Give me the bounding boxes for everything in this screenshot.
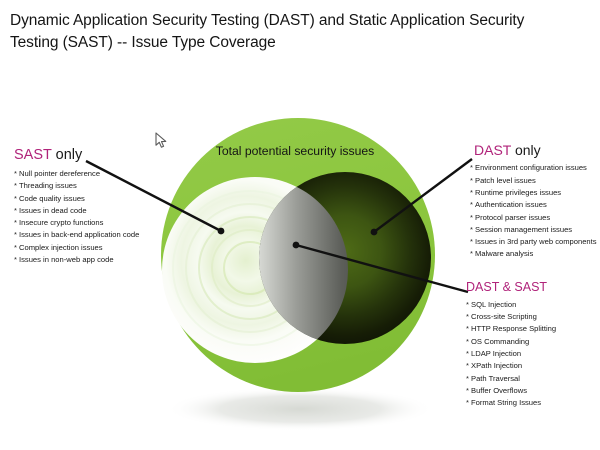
- callout-sast-only-heading-plain: only: [52, 147, 83, 163]
- list-item-label: Runtime privileges issues: [475, 188, 561, 197]
- list-item-label: Buffer Overflows: [471, 386, 527, 395]
- callout-sast-only-heading-accent: SAST: [14, 147, 52, 163]
- list-item: *Complex injection issues: [14, 242, 139, 254]
- list-item: *Runtime privileges issues: [470, 187, 597, 199]
- list-item: *OS Commanding: [466, 336, 556, 348]
- list-item-label: Patch level issues: [475, 176, 536, 185]
- list-item-label: Path Traversal: [471, 374, 520, 383]
- list-item-label: OS Commanding: [471, 337, 529, 346]
- list-item-label: Malware analysis: [475, 249, 533, 258]
- callout-dast-and-sast-list: *SQL Injection *Cross-site Scripting *HT…: [466, 299, 556, 410]
- list-item: *XPath Injection: [466, 360, 556, 372]
- callout-sast-only-list: *Null pointer dereference *Threading iss…: [14, 168, 139, 266]
- list-item: *Issues in non-web app code: [14, 254, 139, 266]
- list-item: *Protocol parser issues: [470, 212, 597, 224]
- list-item: *Cross-site Scripting: [466, 311, 556, 323]
- list-item: *Session management issues: [470, 224, 597, 236]
- list-item-label: Null pointer dereference: [19, 169, 100, 178]
- list-item-label: Issues in back-end application code: [19, 230, 139, 239]
- list-item-label: SQL Injection: [471, 300, 516, 309]
- list-item: *Null pointer dereference: [14, 168, 139, 180]
- list-item-label: Authentication issues: [475, 200, 547, 209]
- list-item-label: Format String Issues: [471, 398, 541, 407]
- list-item: *Malware analysis: [470, 248, 597, 260]
- list-item-label: XPath Injection: [471, 361, 522, 370]
- list-item: *Code quality issues: [14, 193, 139, 205]
- callout-dast-only-list: *Environment configuration issues *Patch…: [470, 162, 597, 260]
- callout-dast-only-heading: DAST only: [470, 143, 597, 158]
- list-item: *Issues in dead code: [14, 205, 139, 217]
- list-item-label: Cross-site Scripting: [471, 312, 537, 321]
- list-item: *SQL Injection: [466, 299, 556, 311]
- list-item-label: Threading issues: [19, 181, 77, 190]
- list-item: *Issues in back-end application code: [14, 229, 139, 241]
- mouse-cursor-icon: [155, 132, 169, 150]
- list-item-label: Protocol parser issues: [475, 213, 550, 222]
- list-item-label: Complex injection issues: [19, 243, 103, 252]
- list-item-label: Insecure crypto functions: [19, 218, 103, 227]
- diagram-drop-shadow: [166, 387, 434, 431]
- list-item-label: Code quality issues: [19, 194, 85, 203]
- callout-dast-only: DAST only *Environment configuration iss…: [470, 143, 597, 261]
- list-item: *Threading issues: [14, 180, 139, 192]
- list-item-label: HTTP Response Splitting: [471, 324, 556, 333]
- list-item: *Authentication issues: [470, 199, 597, 211]
- list-item: *HTTP Response Splitting: [466, 323, 556, 335]
- list-item-label: Issues in 3rd party web components: [475, 237, 597, 246]
- list-item: *LDAP Injection: [466, 348, 556, 360]
- list-item: *Issues in 3rd party web components: [470, 236, 597, 248]
- callout-dast-only-heading-plain: only: [511, 142, 541, 158]
- list-item: *Buffer Overflows: [466, 385, 556, 397]
- diagram-canvas: Dynamic Application Security Testing (DA…: [0, 0, 600, 450]
- list-item-label: Issues in non-web app code: [19, 255, 114, 264]
- list-item: *Patch level issues: [470, 175, 597, 187]
- venn-center-label: Total potential security issues: [205, 144, 385, 158]
- list-item-label: Session management issues: [475, 225, 572, 234]
- callout-sast-only-heading: SAST only: [14, 148, 139, 164]
- list-item-label: LDAP Injection: [471, 349, 521, 358]
- list-item-label: Issues in dead code: [19, 206, 87, 215]
- callout-dast-and-sast-heading-accent: DAST & SAST: [466, 280, 547, 294]
- list-item: *Insecure crypto functions: [14, 217, 139, 229]
- list-item: *Format String Issues: [466, 397, 556, 409]
- list-item-label: Environment configuration issues: [475, 163, 587, 172]
- list-item: *Environment configuration issues: [470, 162, 597, 174]
- callout-dast-and-sast: DAST & SAST *SQL Injection *Cross-site S…: [466, 281, 556, 409]
- list-item: *Path Traversal: [466, 373, 556, 385]
- callout-dast-and-sast-heading: DAST & SAST: [466, 281, 556, 295]
- callout-dast-only-heading-accent: DAST: [474, 142, 511, 158]
- callout-sast-only: SAST only *Null pointer dereference *Thr…: [14, 148, 139, 266]
